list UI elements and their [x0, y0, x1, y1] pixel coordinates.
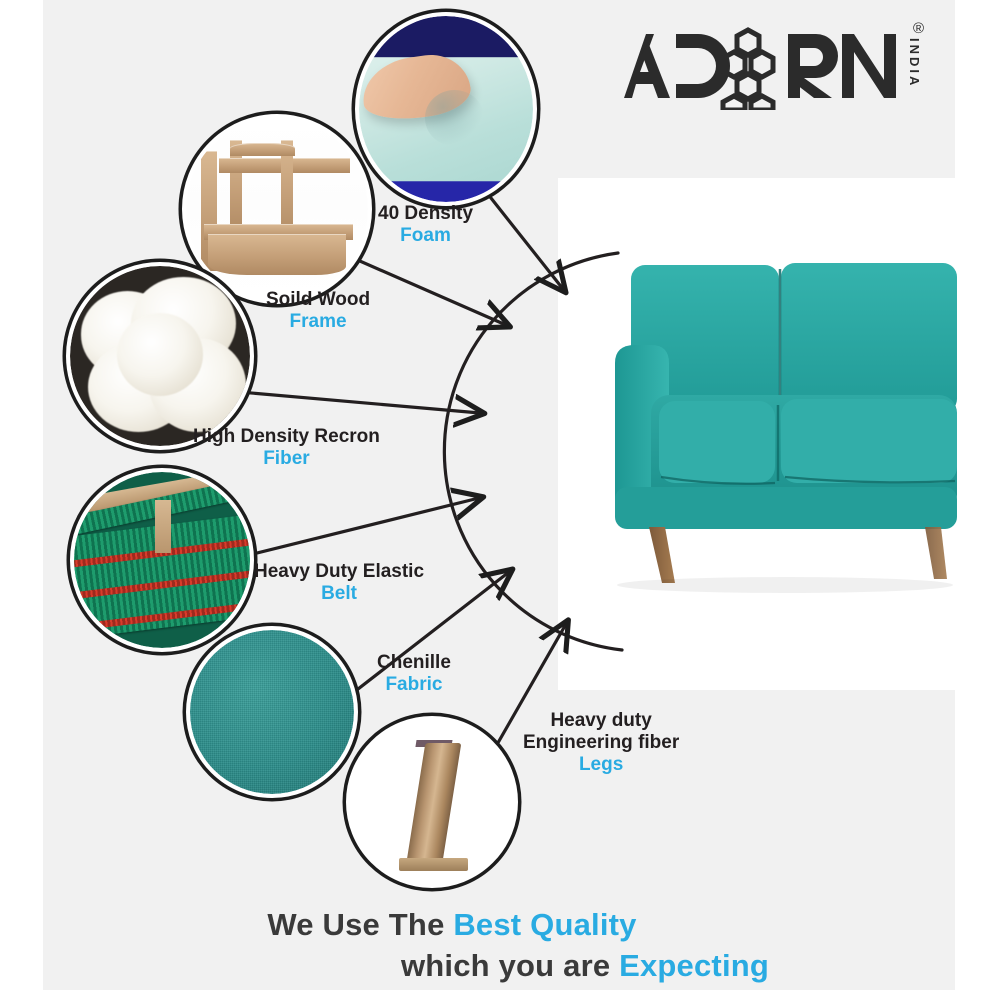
feature-highlight-legs: Legs: [523, 754, 679, 776]
tagline-line-2-plain: which you are: [401, 948, 619, 983]
leg-shaft: [406, 743, 461, 861]
feature-label-fabric: Chenille Fabric: [377, 652, 451, 696]
feature-highlight-belt: Belt: [254, 583, 424, 605]
green-elastic-webbing-photo: [74, 472, 250, 648]
feature-highlight-fabric: Fabric: [377, 674, 451, 696]
logo-wordmark: [618, 22, 918, 110]
feature-label-legs: Heavy duty Engineering fiber Legs: [523, 710, 679, 776]
white-recron-fiber-photo: [70, 266, 250, 446]
tagline-line-1-highlight: Best Quality: [453, 907, 636, 942]
feature-title-legs-line2: Engineering fiber: [523, 732, 679, 754]
logo-india-text: INDIA: [907, 38, 922, 88]
wooden-sofa-frame-photo: [186, 118, 368, 300]
registered-trademark-icon: ®: [913, 20, 924, 37]
tagline-line-1: We Use The Best Quality: [0, 905, 1000, 946]
feature-label-foam: 40 Density Foam: [378, 203, 473, 247]
tagline-line-2-highlight: Expecting: [619, 948, 769, 983]
feature-label-frame: Soild Wood Frame: [266, 289, 370, 333]
feature-image-legs: [346, 716, 518, 888]
foam-dimple: [425, 90, 484, 146]
wood-base-panel: [208, 234, 346, 274]
feature-title-legs-line1: Heavy duty: [550, 710, 651, 731]
fiber-puff: [117, 313, 203, 396]
foam-block-hand-press-photo: [359, 16, 533, 202]
feature-image-fiber: [66, 262, 254, 450]
feature-label-belt: Heavy Duty Elastic Belt: [254, 561, 424, 605]
feature-title-foam: 40 Density: [378, 203, 473, 224]
feature-title-fabric: Chenille: [377, 652, 451, 673]
feature-title-fiber: High Density Recron: [193, 426, 380, 447]
feature-image-fabric: [186, 626, 358, 798]
feature-label-fiber: High Density Recron Fiber: [193, 426, 380, 470]
feature-image-foam: [355, 12, 537, 206]
brand-logo[interactable]: INDIA ®: [618, 22, 918, 110]
feature-title-belt: Heavy Duty Elastic: [254, 561, 424, 582]
wood-arm-top: [230, 143, 296, 156]
sofa-product-image: [595, 255, 957, 605]
leg-base-plate: [399, 858, 468, 871]
feature-highlight-foam: Foam: [378, 225, 473, 247]
feature-image-belt: [70, 468, 254, 652]
teal-chenille-fabric-swatch-photo: [190, 630, 354, 794]
honeycomb-hexagon-icon: [723, 30, 773, 110]
belt-wood-post: [155, 500, 171, 553]
tagline: We Use The Best Quality which you are Ex…: [0, 905, 1000, 987]
feature-highlight-frame: Frame: [266, 311, 370, 333]
tagline-line-2: which you are Expecting: [0, 946, 1000, 987]
tapered-sofa-leg-photo: [350, 720, 514, 884]
feature-image-frame: [182, 114, 372, 304]
feature-highlight-fiber: Fiber: [193, 448, 380, 470]
tagline-line-1-plain: We Use The: [267, 907, 453, 942]
feature-title-frame: Soild Wood: [266, 289, 370, 310]
infographic-canvas: 40 Density Foam Soild Wood Frame High De…: [0, 0, 1000, 1000]
